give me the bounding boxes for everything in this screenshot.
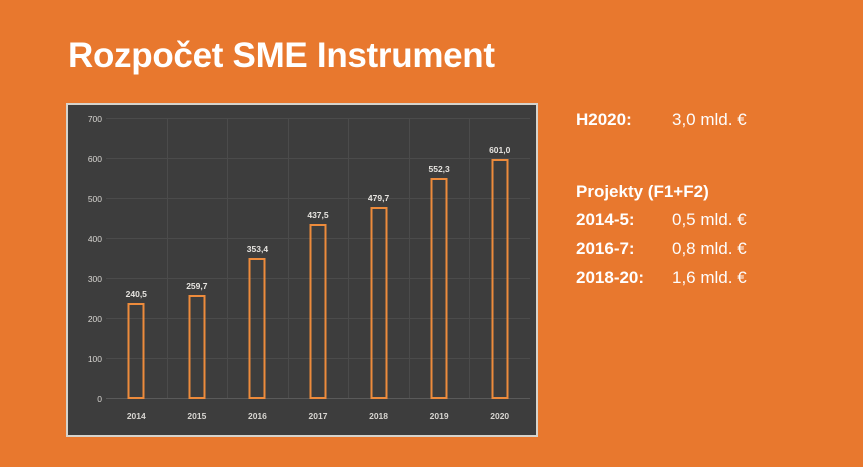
info-row-project: 2014-5:0,5 mld. € — [576, 210, 846, 230]
bar-slot: 437,52017 — [288, 119, 349, 399]
x-tick-label: 2019 — [430, 411, 449, 421]
bar[interactable] — [491, 159, 508, 399]
bar-value-label: 479,7 — [368, 193, 389, 203]
info-row-project: 2018-20:1,6 mld. € — [576, 268, 846, 288]
bar[interactable] — [309, 224, 326, 399]
bar[interactable] — [370, 207, 387, 399]
x-tick-label: 2017 — [309, 411, 328, 421]
project-label: 2018-20: — [576, 268, 672, 288]
bar[interactable] — [249, 258, 266, 399]
bar-slot: 259,72015 — [167, 119, 228, 399]
info-row-h2020: H2020: 3,0 mld. € — [576, 110, 846, 130]
y-tick-label: 0 — [72, 394, 102, 404]
bar-value-label: 437,5 — [307, 210, 328, 220]
y-tick-label: 700 — [72, 114, 102, 124]
projects-heading: Projekty (F1+F2) — [576, 182, 846, 202]
bar-value-label: 259,7 — [186, 281, 207, 291]
y-tick-label: 100 — [72, 354, 102, 364]
bar[interactable] — [188, 295, 205, 399]
bar-slot: 601,02020 — [469, 119, 530, 399]
bar-slot: 552,32019 — [409, 119, 470, 399]
bar[interactable] — [128, 303, 145, 399]
x-tick-label: 2020 — [490, 411, 509, 421]
bar-slot: 240,52014 — [106, 119, 167, 399]
project-rows: 2014-5:0,5 mld. €2016-7:0,8 mld. €2018-2… — [576, 210, 846, 288]
bar-value-label: 552,3 — [428, 164, 449, 174]
y-tick-label: 300 — [72, 274, 102, 284]
y-tick-label: 600 — [72, 154, 102, 164]
chart-panel: 0100200300400500600700 240,52014259,7201… — [66, 103, 538, 437]
bar-slot: 353,42016 — [227, 119, 288, 399]
info-block: H2020: 3,0 mld. € Projekty (F1+F2) 2014-… — [576, 110, 846, 288]
h2020-value: 3,0 mld. € — [672, 110, 747, 130]
project-value: 0,8 mld. € — [672, 239, 747, 259]
x-tick-label: 2014 — [127, 411, 146, 421]
x-tick-label: 2018 — [369, 411, 388, 421]
bar-value-label: 353,4 — [247, 244, 268, 254]
y-tick-label: 500 — [72, 194, 102, 204]
bar-value-label: 240,5 — [126, 289, 147, 299]
page-title: Rozpočet SME Instrument — [68, 36, 495, 76]
h2020-label: H2020: — [576, 110, 672, 130]
bar-slot: 479,72018 — [348, 119, 409, 399]
x-tick-label: 2016 — [248, 411, 267, 421]
project-value: 0,5 mld. € — [672, 210, 747, 230]
info-row-project: 2016-7:0,8 mld. € — [576, 239, 846, 259]
project-value: 1,6 mld. € — [672, 268, 747, 288]
project-label: 2016-7: — [576, 239, 672, 259]
y-tick-label: 400 — [72, 234, 102, 244]
bar[interactable] — [431, 178, 448, 399]
x-tick-label: 2015 — [187, 411, 206, 421]
bar-value-label: 601,0 — [489, 145, 510, 155]
plot-wrapper: 0100200300400500600700 240,52014259,7201… — [68, 105, 536, 435]
plot-area: 240,52014259,72015353,42016437,52017479,… — [106, 119, 530, 399]
y-tick-label: 200 — [72, 314, 102, 324]
project-label: 2014-5: — [576, 210, 672, 230]
